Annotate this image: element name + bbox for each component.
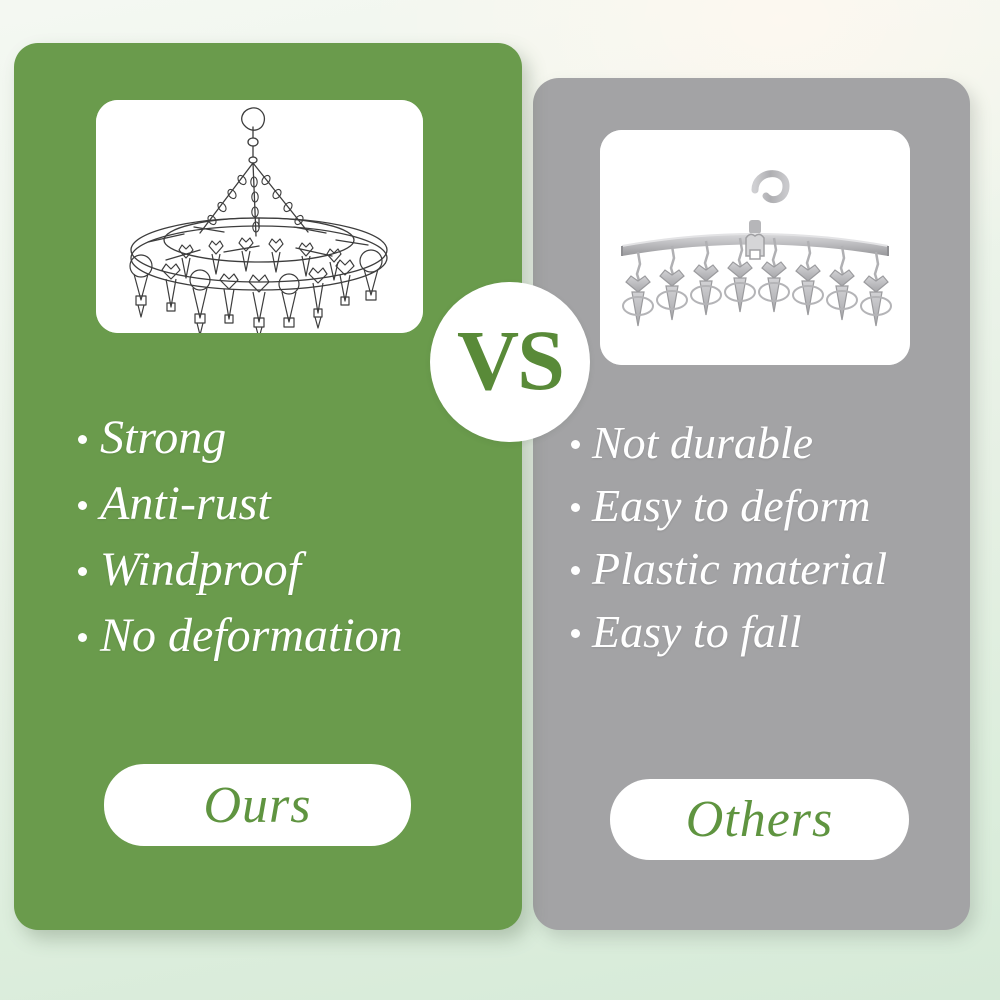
others-title-label: Others <box>686 790 834 849</box>
ours-product-image <box>96 100 423 333</box>
vs-label: VS <box>457 317 563 403</box>
bullet-dot-icon <box>78 567 87 576</box>
comparison-infographic: Not durable Easy to deform Plastic mater… <box>0 0 1000 1000</box>
others-feature-label: Not durable <box>592 411 813 474</box>
ours-feature-label: Anti-rust <box>100 471 271 537</box>
list-item: Easy to fall <box>571 600 887 663</box>
others-title-pill: Others <box>610 779 909 860</box>
others-feature-list: Not durable Easy to deform Plastic mater… <box>571 411 887 663</box>
bullet-dot-icon <box>571 566 580 575</box>
ours-feature-label: Windproof <box>100 537 301 603</box>
list-item: Anti-rust <box>78 471 403 537</box>
list-item: Plastic material <box>571 537 887 600</box>
bullet-dot-icon <box>78 435 87 444</box>
others-feature-label: Plastic material <box>592 537 887 600</box>
list-item: No deformation <box>78 603 403 669</box>
list-item: Easy to deform <box>571 474 887 537</box>
bullet-dot-icon <box>78 633 87 642</box>
ours-feature-list: Strong Anti-rust Windproof No deformatio… <box>78 405 403 669</box>
vs-badge: VS <box>430 282 590 442</box>
ours-title-label: Ours <box>203 776 311 835</box>
bullet-dot-icon <box>571 440 580 449</box>
list-item: Not durable <box>571 411 887 474</box>
list-item: Strong <box>78 405 403 471</box>
others-product-image <box>600 130 910 365</box>
bullet-dot-icon <box>571 503 580 512</box>
ours-title-pill: Ours <box>104 764 411 846</box>
ours-feature-label: No deformation <box>100 603 403 669</box>
list-item: Windproof <box>78 537 403 603</box>
bullet-dot-icon <box>571 629 580 638</box>
ours-feature-label: Strong <box>100 405 226 471</box>
others-feature-label: Easy to fall <box>592 600 802 663</box>
bullet-dot-icon <box>78 501 87 510</box>
others-feature-label: Easy to deform <box>592 474 871 537</box>
